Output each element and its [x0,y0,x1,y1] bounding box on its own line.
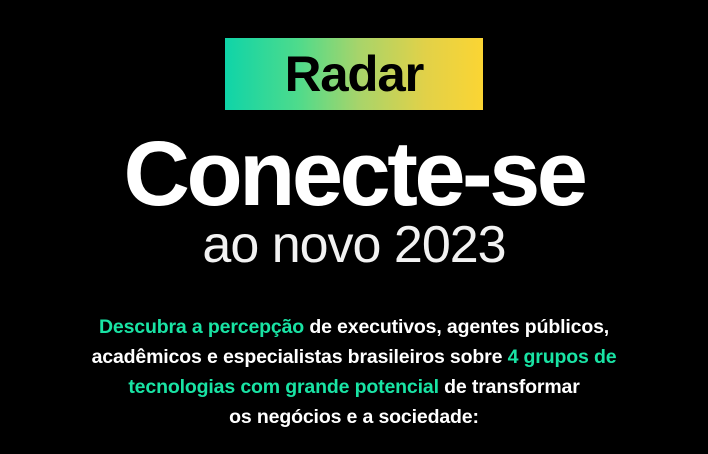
page-title: Conecte-se [0,128,708,220]
body-line-2-highlight: 4 grupos de [508,346,617,368]
body-line-3: tecnologias com grande potencial de tran… [0,372,708,402]
body-line-2: acadêmicos e especialistas brasileiros s… [0,342,708,372]
body-line-3-highlight: tecnologias com grande potencial [128,376,439,398]
body-line-1: Descubra a percepção de executivos, agen… [0,312,708,342]
body-line-2-plain: acadêmicos e especialistas brasileiros s… [92,346,508,368]
body-line-3-plain: de transformar [439,376,580,398]
radar-badge: Radar [225,38,483,110]
body-line-1-highlight: Descubra a percepção [99,316,304,338]
badge-row: Radar [0,38,708,110]
poster-root: Radar Conecte-se ao novo 2023 Descubra a… [0,0,708,454]
body-line-1-plain: de executivos, agentes públicos, [304,316,609,338]
radar-badge-label: Radar [285,49,423,99]
page-subtitle: ao novo 2023 [0,219,708,271]
body-copy: Descubra a percepção de executivos, agen… [0,312,708,432]
body-line-4-plain: os negócios e a sociedade: [229,406,479,428]
body-line-4: os negócios e a sociedade: [0,402,708,432]
